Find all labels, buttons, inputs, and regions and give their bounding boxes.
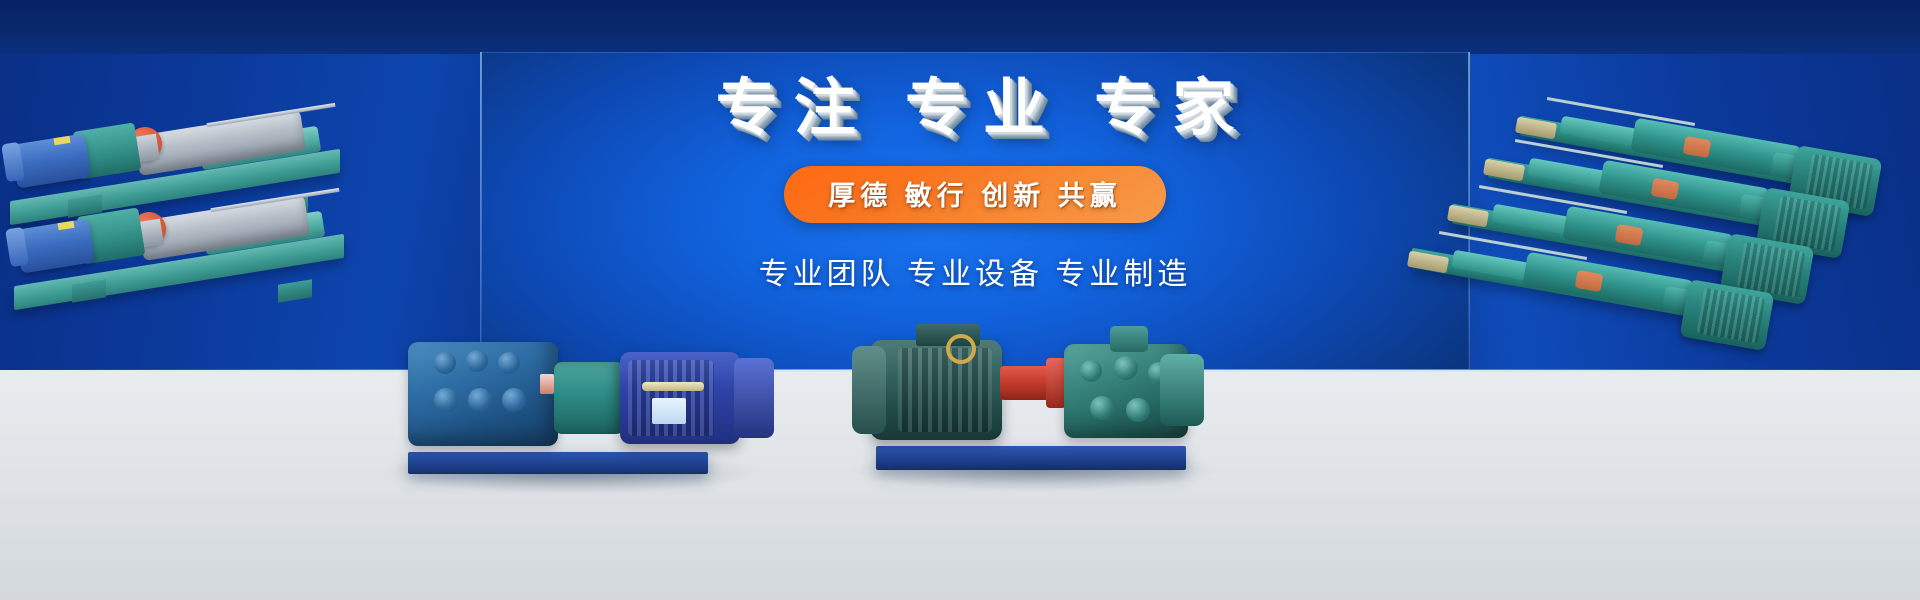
pump-lobe (434, 352, 456, 374)
coupling-guard (554, 362, 624, 434)
promo-banner: 专注 专业 专家 厚德 敏行 创新 共赢 专业团队 专业设备 专业制造 (0, 0, 1920, 600)
slogan-pill: 厚德 敏行 创新 共赢 (784, 166, 1166, 223)
pump-bedplate (408, 452, 708, 474)
pump-lobe (434, 388, 458, 412)
banner-subtitle: 专业团队 专业设备 专业制造 (759, 249, 1192, 293)
pump-lobe (1090, 396, 1114, 420)
pump-lobe (502, 388, 526, 412)
motor-shaft-bar (642, 382, 704, 391)
pump-lobe (1126, 398, 1150, 422)
pump-nameplate (540, 374, 554, 394)
motor-nameplate (652, 398, 686, 424)
page-title: 专注 专业 专家 (716, 78, 1250, 140)
top-shadow-bar (0, 0, 1920, 54)
pump-lobe (468, 388, 492, 412)
banner-text-block: 专注 专业 专家 厚德 敏行 创新 共赢 专业团队 专业设备 专业制造 (480, 52, 1470, 372)
slogan-pill-text: 厚德 敏行 创新 共赢 (828, 174, 1122, 213)
pump-bedplate (876, 446, 1186, 470)
